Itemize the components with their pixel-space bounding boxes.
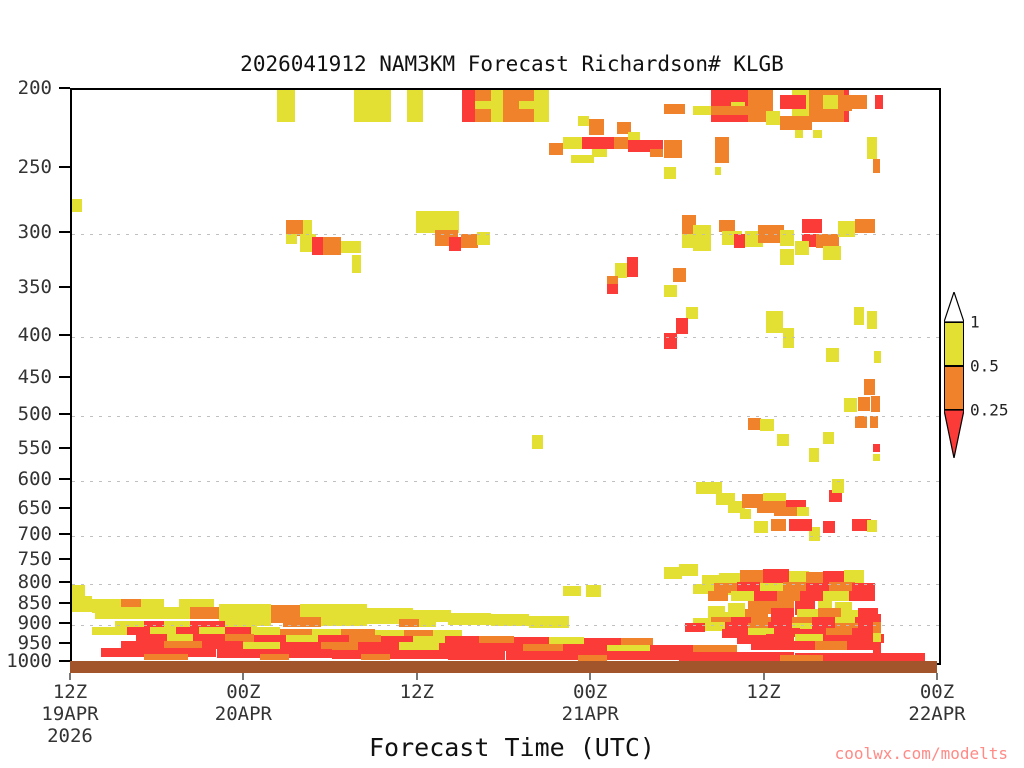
y-tick-mark (59, 334, 70, 336)
colorbar-label: 0.25 (970, 401, 1009, 420)
heatmap-cell (780, 249, 794, 265)
heatmap-cell (777, 591, 800, 601)
heatmap-cell (352, 255, 361, 273)
x-tick-time: 00Z (920, 681, 954, 703)
y-tick-mark (59, 602, 70, 604)
heatmap-cell (686, 307, 698, 319)
y-tick-label: 600 (18, 468, 52, 490)
heatmap-cell (838, 95, 867, 109)
y-tick-mark (59, 558, 70, 560)
heatmap-cell (664, 167, 676, 179)
x-tick-mark (936, 673, 938, 680)
heatmap-cell (277, 90, 294, 122)
y-tick-mark (59, 622, 70, 624)
heatmap-cell (462, 90, 475, 122)
heatmap-cell (789, 519, 812, 531)
heatmap-cell (323, 237, 340, 255)
y-tick-mark (59, 642, 70, 644)
x-tick-label: 12Z (746, 681, 780, 703)
heatmap-cell (621, 651, 679, 660)
x-tick-date: 19APR (41, 703, 98, 725)
heatmap-cell (783, 641, 815, 650)
heatmap-cell (693, 106, 710, 115)
heatmap-cell (802, 219, 822, 233)
heatmap-cell (664, 104, 684, 114)
heatmap-cell (870, 416, 879, 428)
heatmap-cell (475, 101, 491, 109)
chart-title: 2026041912 NAM3KM Forecast Richardson# K… (0, 52, 1024, 76)
heatmap-cell (571, 155, 594, 163)
heatmap-cell (407, 90, 423, 122)
heatmap-cell (592, 149, 606, 157)
heatmap-cell (685, 623, 705, 632)
heatmap-cell (867, 311, 877, 329)
y-tick-mark (59, 286, 70, 288)
heatmap-cell (777, 434, 789, 446)
heatmap-cell (300, 617, 320, 627)
heatmap-cell (477, 232, 490, 245)
x-tick-time: 00Z (226, 681, 260, 703)
heatmap-plot-area (70, 88, 941, 665)
colorbar-segment (944, 366, 964, 410)
heatmap-cell (800, 591, 823, 601)
heatmap-cell (144, 654, 187, 660)
heatmap-cell (72, 596, 92, 612)
heatmap-cell (838, 221, 855, 237)
y-tick-label: 400 (18, 324, 52, 346)
y-tick-label: 200 (18, 77, 52, 99)
y-tick-mark (59, 413, 70, 415)
heatmap-cell (92, 627, 127, 635)
heatmap-cell (715, 167, 721, 175)
heatmap-cell (813, 130, 822, 138)
heatmap-cell (693, 225, 710, 251)
x-tick-mark (589, 673, 591, 680)
heatmap-cell (354, 90, 392, 122)
heatmap-cell (844, 398, 857, 412)
heatmap-cell (854, 307, 864, 325)
heatmap-cell (156, 607, 191, 619)
heatmap-cell (582, 137, 614, 149)
heatmap-cell (873, 642, 882, 656)
x-tick-time: 12Z (400, 681, 434, 703)
x-tick-time: 00Z (573, 681, 607, 703)
y-tick-label: 500 (18, 403, 52, 425)
heatmap-cell (679, 564, 698, 576)
heatmap-cell (534, 90, 548, 122)
heatmap-cell (715, 137, 729, 163)
terrain-band (70, 661, 937, 673)
heatmap-cell (795, 130, 804, 138)
y-tick-label: 1000 (6, 650, 52, 672)
heatmap-cell (823, 432, 833, 444)
heatmap-cell (95, 607, 156, 619)
x-tick-time: 12Z (53, 681, 87, 703)
y-tick-label: 350 (18, 276, 52, 298)
y-tick-label: 300 (18, 221, 52, 243)
heatmap-cell (578, 655, 607, 661)
heatmap-cell (664, 140, 681, 158)
heatmap-cell (361, 654, 390, 660)
credit-watermark: coolwx.com/modelts (835, 744, 1008, 763)
heatmap-cell (682, 234, 694, 248)
heatmap-cell (491, 90, 503, 122)
colorbar-label: 1 (970, 313, 980, 332)
heatmap-cell (419, 619, 436, 627)
heatmap-cell (711, 106, 749, 115)
heatmap-cell (774, 507, 797, 516)
heatmap-cell (586, 585, 600, 597)
y-tick-label: 800 (18, 571, 52, 593)
x-tick-time: 12Z (746, 681, 780, 703)
heatmap-cell (754, 591, 777, 601)
heatmap-cell (858, 397, 870, 411)
heatmap-cell (286, 234, 298, 244)
heatmap-cell (563, 137, 582, 149)
heatmap-cells (72, 90, 939, 663)
heatmap-cell (506, 651, 564, 660)
heatmap-cell (563, 586, 580, 596)
heatmap-cell (260, 654, 289, 660)
heatmap-cell (627, 257, 639, 277)
x-tick-label: 00Z22APR (908, 681, 965, 725)
heatmap-cell (731, 591, 754, 601)
y-tick-mark (59, 87, 70, 89)
x-tick-label: 00Z21APR (562, 681, 619, 725)
y-tick-mark (59, 166, 70, 168)
heatmap-cell (780, 116, 812, 130)
heatmap-cell (283, 617, 300, 627)
heatmap-cell (795, 241, 809, 255)
heatmap-cell (766, 111, 780, 125)
heatmap-cell (771, 519, 785, 531)
colorbar-arrow-above-outline (944, 292, 964, 322)
heatmap-cell (754, 521, 768, 533)
heatmap-cell (809, 448, 819, 462)
colorbar-arrow-below (944, 410, 964, 458)
x-tick-date: 22APR (908, 703, 965, 725)
heatmap-cell (673, 268, 686, 282)
heatmap-cell (650, 149, 663, 157)
heatmap-cell (614, 137, 628, 149)
heatmap-cell (589, 119, 603, 135)
heatmap-cell (323, 617, 343, 625)
y-tick-mark (59, 660, 70, 662)
x-tick-mark (416, 673, 418, 680)
x-tick-date: 20APR (215, 703, 272, 725)
heatmap-cell (532, 435, 544, 449)
heatmap-cell (72, 199, 82, 212)
y-tick-label: 650 (18, 497, 52, 519)
y-tick-mark (59, 231, 70, 233)
heatmap-cell (190, 607, 219, 619)
y-tick-label: 250 (18, 156, 52, 178)
y-tick-mark (59, 507, 70, 509)
heatmap-cell (708, 591, 728, 601)
heatmap-cell (734, 234, 746, 248)
y-tick-label: 750 (18, 548, 52, 570)
heatmap-cell (873, 159, 880, 173)
heatmap-cell (449, 237, 461, 251)
colorbar-label: 0.5 (970, 357, 999, 376)
heatmap-cell (679, 652, 737, 661)
heatmap-cell (461, 234, 478, 248)
y-tick-label: 850 (18, 592, 52, 614)
heatmap-cell (399, 619, 419, 627)
heatmap-cell (823, 521, 835, 533)
y-tick-mark (59, 376, 70, 378)
colorbar: 10.50.25 (944, 322, 964, 456)
heatmap-cell (823, 591, 849, 601)
heatmap-cell (780, 230, 794, 246)
x-tick-label: 12Z (400, 681, 434, 703)
heatmap-cell (797, 507, 809, 516)
heatmap-cell (815, 641, 847, 650)
heatmap-cell (864, 379, 876, 395)
heatmap-cell (871, 396, 880, 412)
x-tick-label: 00Z20APR (215, 681, 272, 725)
y-axis-labels: 2002503003504004505005506006507007508008… (0, 0, 70, 768)
heatmap-cell (823, 95, 837, 109)
heatmap-cell (312, 237, 324, 255)
x-tick-mark (242, 673, 244, 680)
heatmap-cell (751, 641, 783, 650)
heatmap-cell (607, 284, 619, 294)
heatmap-cell (823, 246, 840, 260)
colorbar-segment (944, 322, 964, 366)
heatmap-cell (849, 591, 875, 601)
heatmap-cell (832, 479, 844, 493)
x-tick-mark (763, 673, 765, 680)
heatmap-cell (519, 101, 536, 109)
chart-page: 2026041912 NAM3KM Forecast Richardson# K… (0, 0, 1024, 768)
heatmap-cell (826, 348, 839, 362)
heatmap-cell (783, 328, 795, 348)
heatmap-cell (578, 116, 590, 126)
heatmap-cell (549, 143, 563, 155)
y-tick-label: 700 (18, 523, 52, 545)
heatmap-cell (664, 285, 677, 297)
heatmap-cell (676, 318, 688, 334)
heatmap-cell (448, 613, 491, 625)
heatmap-cell (766, 311, 783, 333)
y-tick-label: 450 (18, 366, 52, 388)
y-tick-mark (59, 581, 70, 583)
heatmap-cell (873, 454, 880, 461)
y-tick-mark (59, 478, 70, 480)
y-tick-mark (59, 533, 70, 535)
heatmap-cell (341, 241, 361, 253)
heatmap-cell (867, 137, 877, 159)
heatmap-cell (664, 333, 677, 349)
heatmap-cell (760, 419, 774, 431)
heatmap-cell (867, 520, 877, 532)
y-tick-mark (59, 447, 70, 449)
heatmap-cell (628, 132, 640, 140)
heatmap-cell (855, 416, 867, 428)
heatmap-cell (390, 650, 448, 659)
y-tick-label: 550 (18, 437, 52, 459)
heatmap-cell (491, 614, 529, 626)
heatmap-cell (855, 219, 875, 233)
heatmap-cell (529, 616, 569, 628)
x-tick-mark (69, 673, 71, 680)
heatmap-cell (875, 95, 882, 109)
heatmap-cell (874, 351, 881, 363)
heatmap-cell (740, 509, 752, 519)
heatmap-cell (780, 95, 806, 109)
heatmap-cell (448, 651, 506, 660)
heatmap-cell (873, 444, 880, 452)
heatmap-cell (780, 655, 823, 661)
x-tick-date: 21APR (562, 703, 619, 725)
